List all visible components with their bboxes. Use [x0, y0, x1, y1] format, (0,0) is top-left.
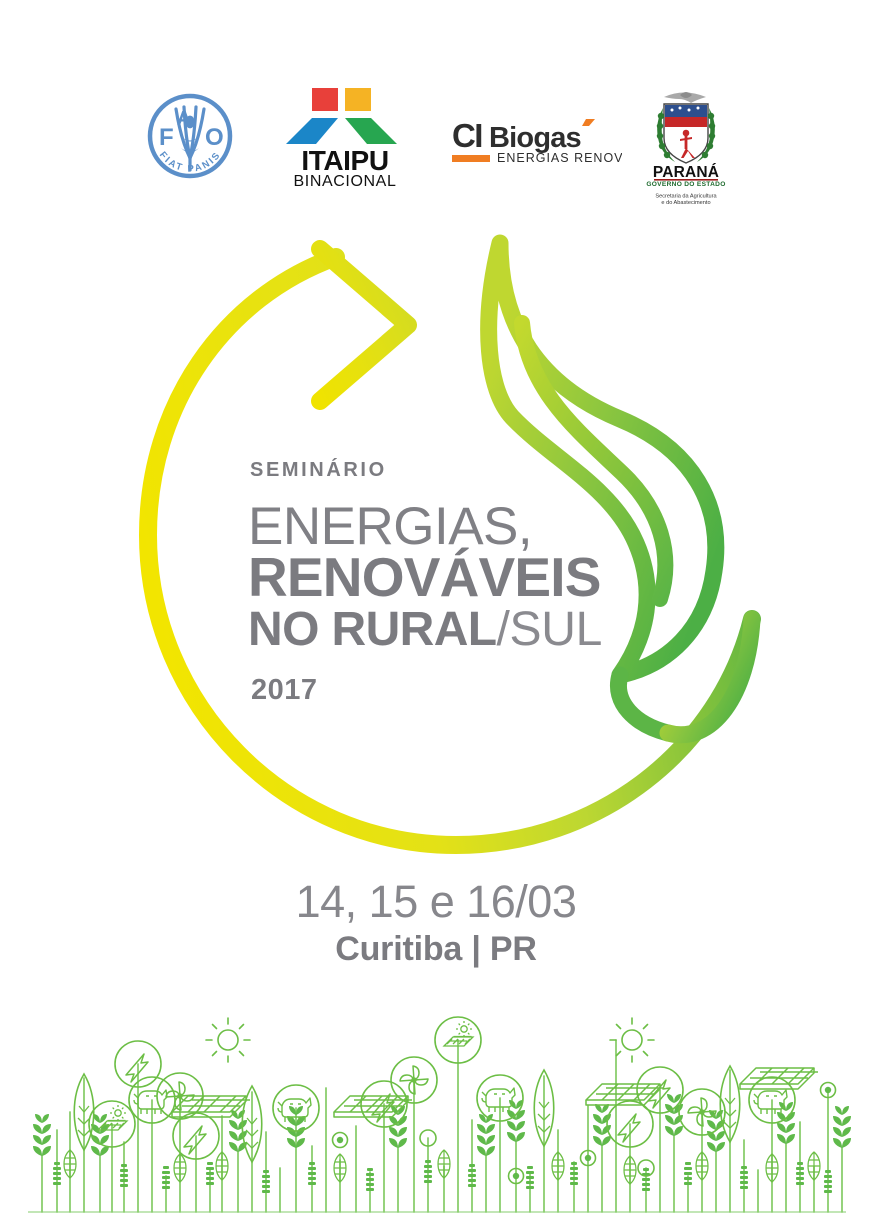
poster-root: F A O FIAT PANIS FAO: [0, 0, 872, 1220]
parana-wordmark: PARANÁ: [653, 164, 719, 181]
sun-icon: [610, 1018, 654, 1062]
arrow-head-icon: [320, 249, 408, 401]
parana-coat-of-arms-icon: [657, 92, 715, 163]
svg-text:O: O: [205, 124, 224, 151]
icon-badges-group: [89, 1017, 795, 1159]
title-sul: /SUL: [497, 603, 603, 656]
node-dot: [333, 1133, 348, 1148]
cibiogas-subline: ENERGIAS RENOVÁVEIS: [497, 150, 622, 165]
cibiogas-accent-mark: [582, 119, 595, 126]
title-year: 2017: [251, 676, 668, 705]
event-details: 14, 15 e 16/03 Curitiba | PR: [0, 878, 872, 969]
sponsor-logo-bar: F A O FIAT PANIS FAO: [0, 78, 872, 190]
title-line-energias: ENERGIAS,: [248, 502, 668, 551]
cibiogas-wordmark-biogas: Biogas: [489, 122, 581, 154]
cibiogas-wordmark-ci: CI: [452, 117, 482, 154]
svg-text:A: A: [177, 108, 191, 130]
logo-fao: F A O FIAT PANIS FAO: [139, 92, 241, 180]
itaipu-icon: [286, 88, 397, 144]
fao-icon: F A O FIAT PANIS: [150, 96, 230, 176]
logo-itaipu: ITAIPU BINACIONAL: [279, 84, 411, 188]
event-dates: 14, 15 e 16/03: [0, 878, 872, 925]
itaipu-wordmark: ITAIPU: [301, 145, 388, 176]
sun-icons-group: [206, 1018, 654, 1062]
kicker-seminario: SEMINÁRIO: [250, 460, 668, 480]
parana-secretaria-line1: Secretaria da Agricultura: [655, 194, 717, 200]
event-location: Curitiba | PR: [0, 931, 872, 968]
sun-icon: [206, 1018, 250, 1062]
parana-gov-line: GOVERNO DO ESTADO: [646, 181, 725, 188]
svg-text:F: F: [159, 124, 174, 151]
title-no-rural: NO RURAL: [248, 603, 497, 656]
logo-parana: PARANÁ GOVERNO DO ESTADO Secretaria da A…: [634, 82, 738, 188]
itaipu-subline: BINACIONAL: [294, 173, 397, 188]
cibiogas-orange-bar: [452, 155, 490, 162]
wheat-outline-group: [64, 1150, 820, 1184]
field-illustration: [0, 980, 872, 1220]
wheat-solid-group: [33, 1094, 851, 1156]
logo-cibiogas: CI Biogas ENERGIAS RENOVÁVEIS: [450, 116, 622, 168]
title-block: SEMINÁRIO ENERGIAS, RENOVÁVEIS NO RURAL/…: [248, 460, 668, 705]
title-line-no-rural-sul: NO RURAL/SUL: [248, 606, 668, 654]
title-line-renovaveis: RENOVÁVEIS: [248, 551, 668, 603]
logo-fao-label: FAO: [241, 92, 242, 93]
